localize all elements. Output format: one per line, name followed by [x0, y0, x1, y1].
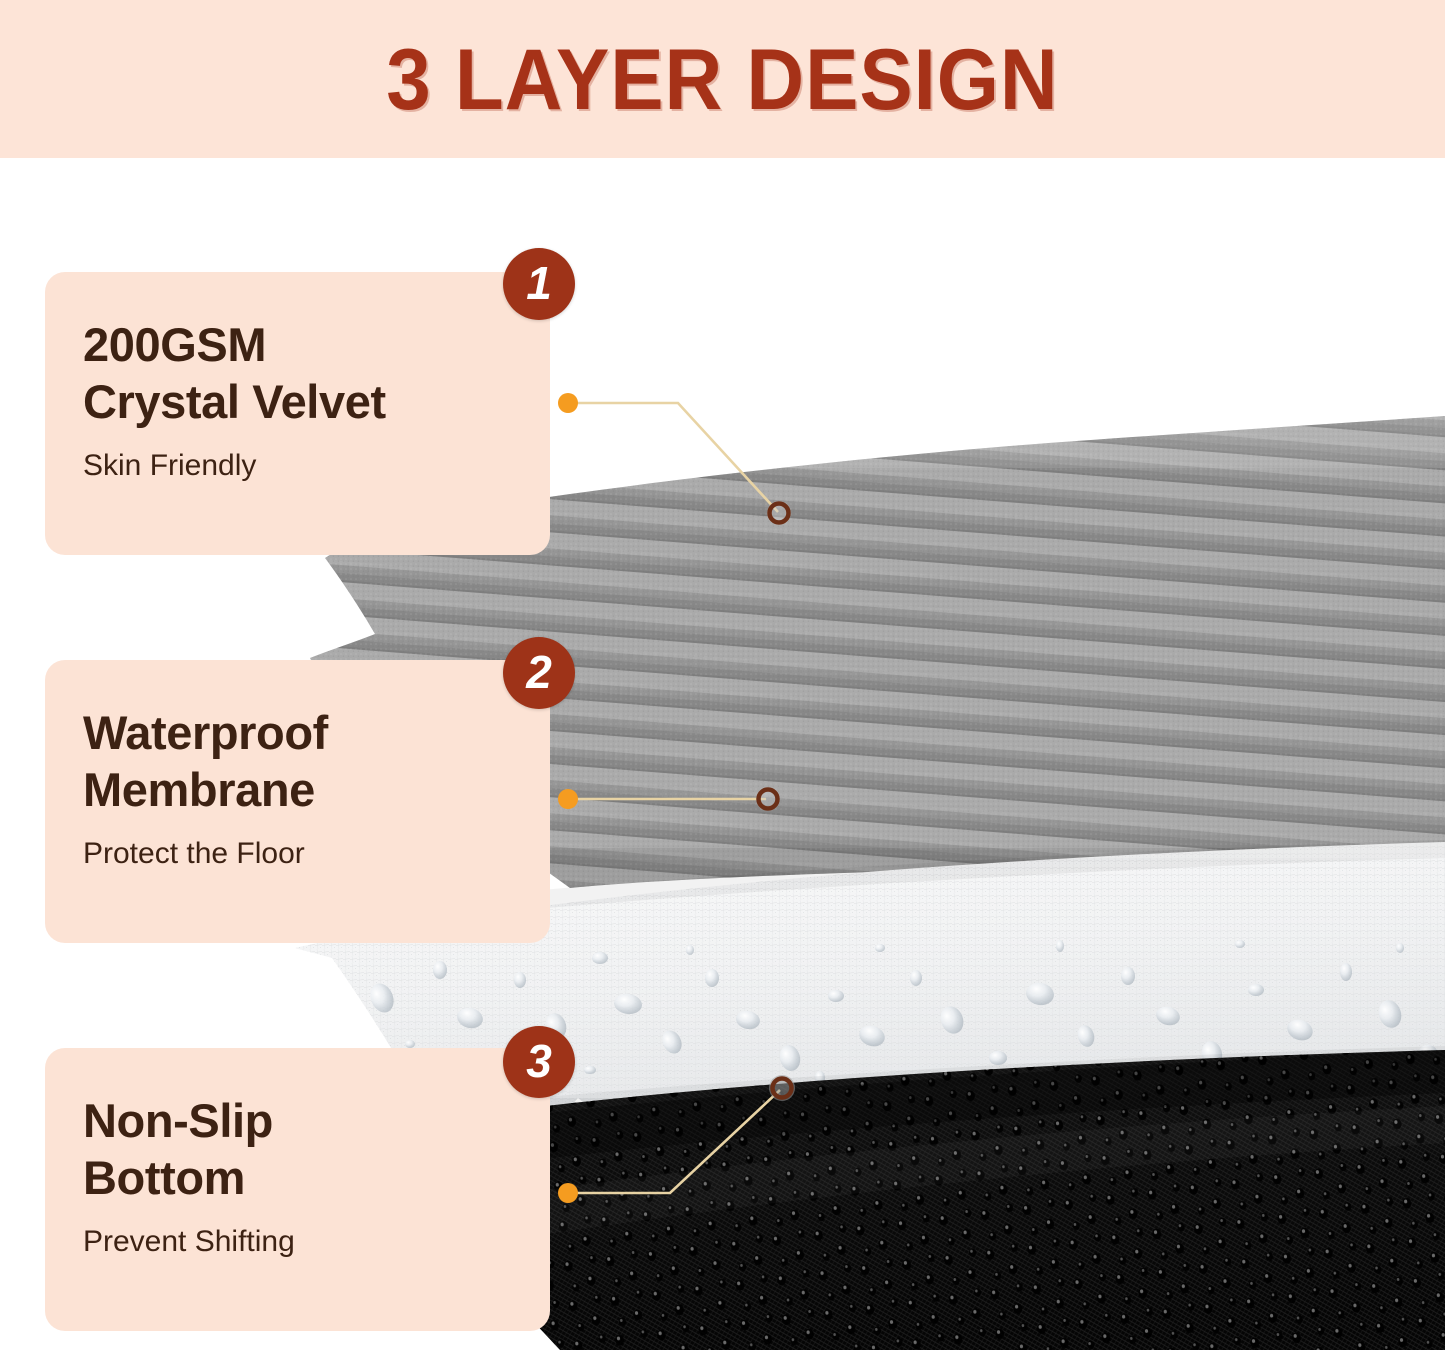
layer-badge-2-number: 2 [526, 649, 552, 695]
header-banner: 3 LAYER DESIGN [0, 0, 1445, 158]
infographic-page: 3 LAYER DESIGN [0, 0, 1445, 1350]
layer-badge-1-number: 1 [526, 260, 552, 306]
layer-card-3-title: Non-Slip Bottom [83, 1092, 512, 1206]
layer-card-2[interactable]: Waterproof Membrane Protect the Floor [45, 660, 550, 943]
layer-card-1-title: 200GSM Crystal Velvet [83, 316, 512, 430]
layer-badge-3: 3 [503, 1026, 575, 1098]
layer-card-3-subtitle: Prevent Shifting [83, 1224, 512, 1260]
layer-card-1-subtitle: Skin Friendly [83, 448, 512, 484]
layer-card-1[interactable]: 200GSM Crystal Velvet Skin Friendly [45, 272, 550, 555]
layer-badge-3-number: 3 [526, 1038, 552, 1084]
layer-badge-1: 1 [503, 248, 575, 320]
page-title: 3 LAYER DESIGN [386, 31, 1058, 130]
layer-card-2-subtitle: Protect the Floor [83, 836, 512, 872]
layer-card-3[interactable]: Non-Slip Bottom Prevent Shifting [45, 1048, 550, 1331]
layer-card-2-title: Waterproof Membrane [83, 704, 512, 818]
layer-badge-2: 2 [503, 637, 575, 709]
